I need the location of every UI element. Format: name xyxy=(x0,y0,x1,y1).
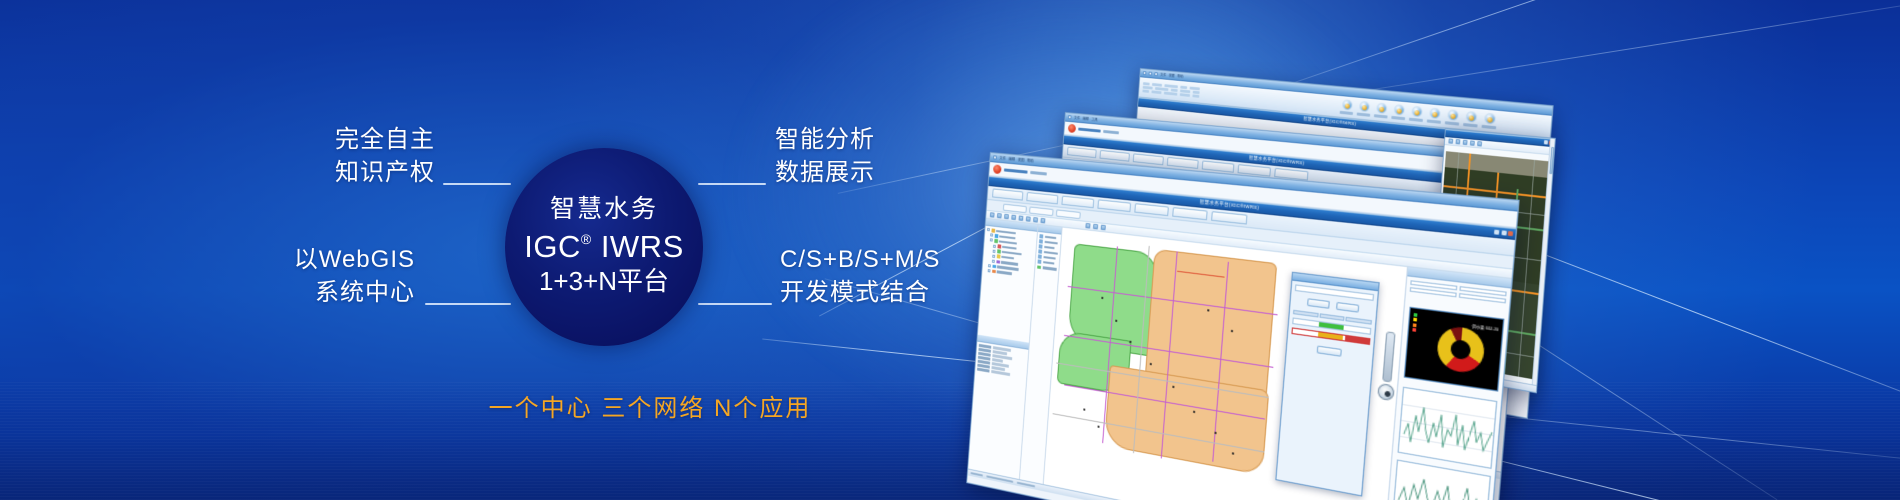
analysis-result-dialog[interactable] xyxy=(1275,272,1379,497)
map-node[interactable] xyxy=(1172,386,1174,388)
feature-line-1: 智能分析 xyxy=(775,123,875,156)
ribbon-button-gis-analysis[interactable] xyxy=(1462,111,1480,127)
tool-item[interactable] xyxy=(1038,255,1058,261)
gauge-value-text: 供水量 532.25 xyxy=(1472,323,1499,332)
dialog-apply-button[interactable] xyxy=(1317,345,1342,356)
road-line xyxy=(1133,246,1150,453)
search-icon[interactable] xyxy=(1101,225,1106,231)
ribbon-button-label xyxy=(1463,123,1478,127)
pipeline-segment[interactable] xyxy=(1064,384,1265,419)
ribbon-button-statistics[interactable] xyxy=(1390,104,1407,120)
feature-line-2: 知识产权 xyxy=(305,156,435,189)
hub-product-suffix: IWRS xyxy=(601,229,684,264)
ribbon-chip[interactable] xyxy=(1142,89,1149,92)
tab-device-monitor[interactable] xyxy=(1061,196,1094,209)
map-node[interactable] xyxy=(1083,408,1085,410)
tab-report-stats[interactable] xyxy=(1167,157,1199,169)
layer-tree-node[interactable] xyxy=(985,253,1033,263)
ribbon-chip[interactable] xyxy=(1151,90,1161,94)
feature-line-1: 以WebGIS xyxy=(285,243,415,276)
tools-panel[interactable] xyxy=(1019,225,1062,491)
inspection-icon xyxy=(1358,101,1369,113)
brand-subtitle xyxy=(1103,130,1119,134)
layer-tree-node[interactable] xyxy=(984,263,1032,273)
property-row xyxy=(977,368,1025,378)
feature-bottom-left: 以WebGIS 系统中心 xyxy=(285,243,415,309)
gis-icon xyxy=(1465,111,1477,123)
pipeline-segment[interactable] xyxy=(1212,262,1229,462)
dialog-input[interactable] xyxy=(1295,284,1374,301)
zoom-in-icon[interactable] xyxy=(997,213,1002,218)
hub-product-name: IGC® IWRS xyxy=(524,229,684,265)
ribbon-button-label xyxy=(1391,116,1405,120)
map-zone-polygon[interactable] xyxy=(1145,249,1278,399)
tab-data-management[interactable] xyxy=(1099,150,1129,162)
menu-edit[interactable]: 编辑 xyxy=(1008,156,1015,162)
zoom-out-icon[interactable] xyxy=(1004,214,1009,220)
feature-top-left: 完全自主 知识产权 xyxy=(305,123,435,189)
window-front[interactable]: 文件 编辑 视图 帮助 智慧水务平台(IGC®IWRS) xyxy=(966,152,1519,500)
layer-tree-node[interactable] xyxy=(986,243,1034,252)
ribbon-button-comprehensive-query[interactable] xyxy=(1339,99,1355,115)
menu-edit[interactable]: 编辑 xyxy=(1082,116,1089,121)
banner-stage: 文件 视图 帮助 xyxy=(0,0,1900,500)
legend-icon[interactable] xyxy=(1093,224,1098,230)
measure-icon[interactable] xyxy=(1477,141,1482,146)
tool-item[interactable] xyxy=(1038,250,1058,256)
window-icon xyxy=(1143,71,1147,75)
tool-item[interactable] xyxy=(1039,239,1059,245)
connector-line-top-left xyxy=(443,183,511,185)
map-zone-polygon[interactable] xyxy=(1057,330,1132,395)
tab-data-management[interactable] xyxy=(1026,192,1058,204)
background-floor xyxy=(0,380,1900,500)
menu-help[interactable]: 帮助 xyxy=(1027,158,1034,164)
legend-swatch-medium xyxy=(1413,323,1417,327)
window-icon xyxy=(1154,72,1158,76)
feature-line-2: 数据展示 xyxy=(775,156,875,189)
pipeline-segment[interactable] xyxy=(1068,286,1278,315)
layer-tree-node[interactable] xyxy=(986,248,1034,258)
tab-pipe-query[interactable] xyxy=(1067,147,1097,159)
main-status-bar xyxy=(968,469,1487,500)
map-node[interactable] xyxy=(1232,452,1234,454)
tool-item[interactable] xyxy=(1039,244,1059,250)
ribbon-button-label xyxy=(1409,118,1423,122)
connector-line-bottom-right xyxy=(698,303,772,305)
legend-swatch-light xyxy=(1413,318,1417,322)
dialog-titlebar[interactable] xyxy=(1292,273,1378,291)
ribbon-button-label xyxy=(1445,121,1459,125)
emergency-icon xyxy=(1447,109,1459,121)
ribbon-button-emergency[interactable] xyxy=(1444,109,1461,125)
connector-line-bottom-left xyxy=(425,303,511,305)
map-node[interactable] xyxy=(1098,425,1100,427)
ribbon-button-report[interactable] xyxy=(1408,106,1425,122)
menu-file[interactable]: 文件 xyxy=(999,155,1006,161)
map-node[interactable] xyxy=(1231,330,1233,332)
company-logo-icon xyxy=(993,164,1002,174)
ribbon-button-label xyxy=(1427,120,1441,124)
hub-platform-label: 1+3+N平台 xyxy=(539,266,669,297)
brand-subtitle xyxy=(1030,171,1047,175)
company-logo-icon xyxy=(1068,124,1076,133)
brand-name xyxy=(1078,127,1101,132)
ribbon-button-label xyxy=(1340,111,1353,115)
hub-circle: 智慧水务 IGC® IWRS 1+3+N平台 xyxy=(505,148,703,346)
menu-help[interactable]: 帮助 xyxy=(1177,74,1183,79)
query-icon xyxy=(1341,99,1352,111)
close-icon[interactable] xyxy=(1508,231,1513,236)
subtab-flow-points[interactable] xyxy=(1056,209,1081,219)
map-zone-polygon[interactable] xyxy=(1067,243,1158,356)
map-node[interactable] xyxy=(1214,432,1216,434)
feature-line-1: C/S+B/S+M/S xyxy=(780,243,940,276)
legend-swatch-severe xyxy=(1412,328,1416,332)
ribbon-button-settings[interactable] xyxy=(1480,113,1498,130)
dispatch-icon xyxy=(1376,103,1387,115)
connector-line-top-right xyxy=(698,183,766,185)
select-icon[interactable] xyxy=(1470,140,1475,145)
ribbon-button-label xyxy=(1357,113,1371,117)
ribbon-chip[interactable] xyxy=(1164,92,1178,96)
map-node[interactable] xyxy=(1115,320,1117,322)
window-icon xyxy=(993,155,997,159)
layer-tree-node[interactable] xyxy=(987,233,1035,242)
dialog-table-row[interactable] xyxy=(1291,327,1370,345)
pointer-icon[interactable] xyxy=(990,212,995,217)
gauge-legend xyxy=(1412,313,1417,332)
tab-system-settings[interactable] xyxy=(1211,211,1247,224)
measure-icon[interactable] xyxy=(1019,215,1024,221)
pipeline-segment[interactable] xyxy=(1161,251,1178,458)
ribbon-chip[interactable] xyxy=(1192,94,1199,97)
maximize-icon[interactable] xyxy=(1501,230,1506,235)
chart-series-line xyxy=(1399,388,1499,470)
statistics-icon xyxy=(1393,104,1405,116)
flow-trend-chart xyxy=(1398,387,1498,469)
menu-view[interactable]: 视图 xyxy=(1169,73,1175,78)
dialog-cancel-button[interactable] xyxy=(1336,302,1359,313)
feature-line-2: 系统中心 xyxy=(285,276,415,309)
ribbon-button-label xyxy=(1482,125,1497,129)
feature-line-2: 开发模式结合 xyxy=(780,276,940,309)
alarm-icon xyxy=(1429,108,1441,120)
minimize-icon[interactable] xyxy=(1543,140,1547,144)
layer-tree-node[interactable] xyxy=(985,258,1033,268)
ribbon-quick-group[interactable] xyxy=(1142,82,1200,98)
legend-swatch-normal xyxy=(1414,313,1418,317)
map-node[interactable] xyxy=(1129,341,1131,343)
ribbon-button-pipe-inspection[interactable] xyxy=(1356,101,1372,117)
layer-tree[interactable] xyxy=(982,226,1037,281)
monitoring-panel[interactable]: 供水量 532.25 xyxy=(1382,267,1511,500)
pan-icon[interactable] xyxy=(1463,140,1468,145)
window-icon xyxy=(1149,72,1153,76)
pipeline-segment[interactable] xyxy=(1064,335,1273,368)
print-icon[interactable] xyxy=(1033,217,1038,223)
tool-item[interactable] xyxy=(1037,265,1057,271)
layer-icon[interactable] xyxy=(1085,223,1090,229)
tool-item[interactable] xyxy=(1039,234,1059,240)
layer-tree-node[interactable] xyxy=(986,238,1034,247)
donut-chart xyxy=(1436,324,1486,375)
tool-item[interactable] xyxy=(1037,260,1057,266)
map-zone-polygon[interactable] xyxy=(1104,365,1269,476)
map-node[interactable] xyxy=(1101,297,1103,299)
subtab-pressure-points[interactable] xyxy=(1029,206,1053,216)
dialog-table-header xyxy=(1293,310,1372,325)
window-icon xyxy=(1068,115,1072,119)
pipeline-segment[interactable] xyxy=(1102,246,1118,443)
tab-pipe-query[interactable] xyxy=(992,188,1023,200)
ribbon-button-label xyxy=(1374,114,1388,118)
minimize-icon[interactable] xyxy=(1494,230,1499,235)
map-zoom-slider[interactable] xyxy=(1382,331,1395,382)
water-supply-gauge: 供水量 532.25 xyxy=(1404,307,1505,392)
properties-list xyxy=(975,342,1028,381)
layer-tree-node[interactable] xyxy=(984,268,1032,278)
zoom-in-icon[interactable] xyxy=(1448,138,1453,143)
pipeline-alarm-segment[interactable] xyxy=(1177,271,1224,278)
report-icon xyxy=(1411,106,1423,118)
refresh-icon[interactable] xyxy=(1040,218,1045,224)
map-node[interactable] xyxy=(1150,363,1152,365)
dialog-table-row[interactable] xyxy=(1292,317,1371,334)
window-controls[interactable] xyxy=(1494,230,1513,237)
menu-tools[interactable]: 工具 xyxy=(1091,117,1098,122)
ribbon-button-dispatch[interactable] xyxy=(1373,102,1390,118)
map-node[interactable] xyxy=(1193,411,1195,413)
hub-product-prefix: IGC xyxy=(524,229,581,264)
feature-bottom-right: C/S+B/S+M/S 开发模式结合 xyxy=(780,243,940,309)
map-navigation-pad[interactable] xyxy=(1377,383,1395,401)
brand-name xyxy=(1004,168,1028,174)
menu-file[interactable]: 文件 xyxy=(1160,72,1166,77)
ribbon-button-alarm[interactable] xyxy=(1426,107,1443,123)
tab-device-monitor[interactable] xyxy=(1133,153,1164,165)
road-line xyxy=(1053,413,1265,452)
tab-report-stats[interactable] xyxy=(1097,199,1131,212)
gis-map-canvas[interactable] xyxy=(1043,228,1407,500)
menu-view[interactable]: 视图 xyxy=(1018,157,1025,163)
map-toolbar[interactable] xyxy=(1445,137,1555,155)
gear-icon xyxy=(1483,113,1495,125)
tab-remote-meter[interactable] xyxy=(1134,203,1169,216)
road-line xyxy=(1056,362,1268,398)
pan-icon[interactable] xyxy=(1011,215,1016,221)
zoom-out-icon[interactable] xyxy=(1456,139,1461,144)
hub-title: 智慧水务 xyxy=(550,196,658,224)
secondary-chart xyxy=(1393,459,1491,500)
feature-line-1: 完全自主 xyxy=(305,123,435,156)
chart-series-line xyxy=(1394,461,1492,500)
map-node[interactable] xyxy=(1207,309,1209,311)
layer-tree-node[interactable] xyxy=(987,228,1035,237)
feature-top-right: 智能分析 数据展示 xyxy=(775,123,875,189)
ribbon-chip[interactable] xyxy=(1180,93,1190,97)
identify-icon[interactable] xyxy=(1026,216,1031,222)
dialog-confirm-button[interactable] xyxy=(1307,298,1330,309)
menu-file[interactable]: 文件 xyxy=(1074,115,1080,120)
registered-trademark-icon: ® xyxy=(581,231,592,247)
tab-inspection[interactable] xyxy=(1172,207,1207,220)
tagline-text: 一个中心 三个网络 N个应用 xyxy=(440,388,860,423)
subtab-water-pipes[interactable] xyxy=(1003,203,1027,213)
close-icon[interactable] xyxy=(1549,141,1553,145)
